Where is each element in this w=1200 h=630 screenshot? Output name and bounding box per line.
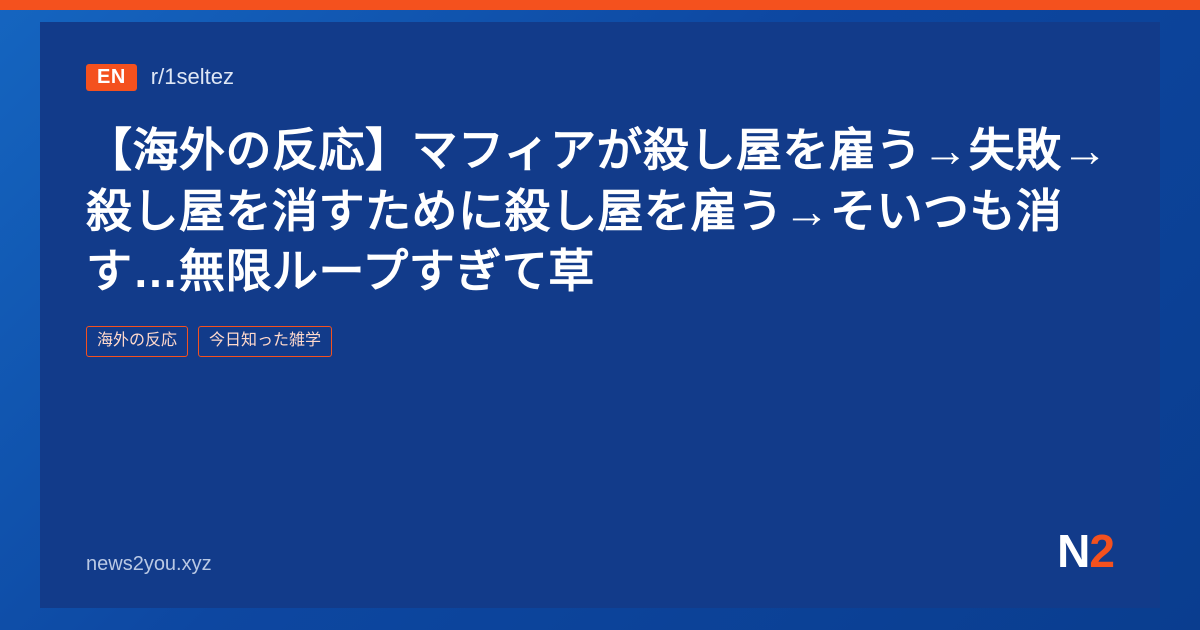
header-row: EN r/1seltez (86, 60, 1114, 94)
tag-item[interactable]: 今日知った雑学 (198, 326, 332, 357)
footer: news2you.xyz N2 (86, 528, 1114, 574)
tag-item[interactable]: 海外の反応 (86, 326, 188, 357)
language-badge: EN (86, 64, 137, 91)
top-accent-bar (0, 0, 1200, 10)
og-card: EN r/1seltez 【海外の反応】マフィアが殺し屋を雇う→失敗→殺し屋を消… (0, 0, 1200, 630)
site-logo: N2 (1057, 528, 1114, 574)
page-title: 【海外の反応】マフィアが殺し屋を雇う→失敗→殺し屋を消すために殺し屋を雇う→そい… (86, 120, 1116, 302)
site-url: news2you.xyz (86, 554, 212, 574)
logo-digit-2: 2 (1089, 525, 1114, 577)
content-panel: EN r/1seltez 【海外の反応】マフィアが殺し屋を雇う→失敗→殺し屋を消… (40, 22, 1160, 608)
tag-list: 海外の反応 今日知った雑学 (86, 326, 1114, 357)
source-label: r/1seltez (151, 66, 234, 88)
logo-letter-n: N (1057, 525, 1089, 577)
